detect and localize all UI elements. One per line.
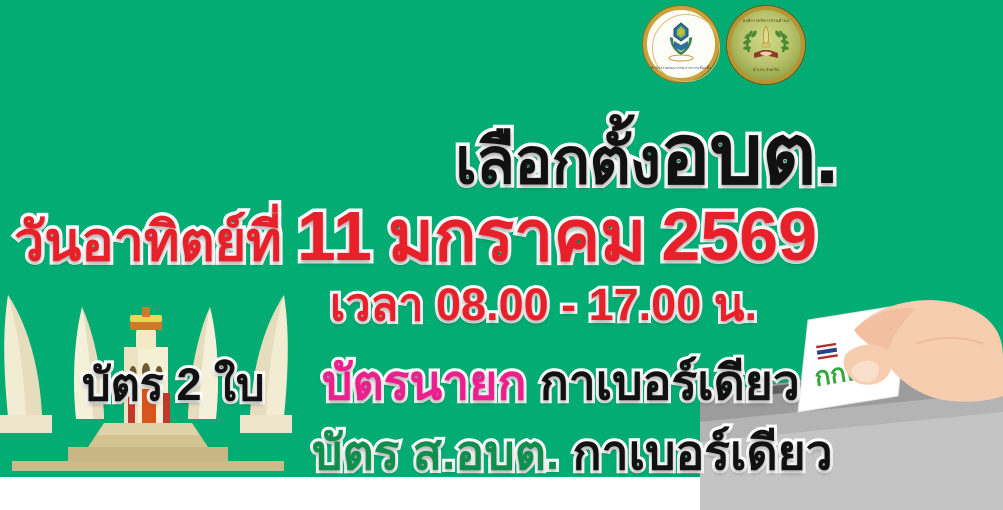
ballot-council-type: บัตร ส.อบต. bbox=[312, 427, 559, 480]
time-range: 08.00 - 17.00 bbox=[436, 279, 701, 330]
local-seal-graphic bbox=[738, 17, 794, 73]
time-label: เวลา bbox=[330, 279, 424, 330]
ballot-mayor-instruction: กาเบอร์เดียว bbox=[540, 357, 800, 410]
ballot-row-mayor: บัตรนายก กาเบอร์เดียว bbox=[322, 345, 800, 421]
ballot-council-instruction: กาเบอร์เดียว bbox=[573, 427, 833, 480]
ballot-mayor-type: บัตรนายก bbox=[322, 357, 526, 410]
local-seal-caption-bottom: อำเภอ จังหวัด bbox=[731, 66, 801, 73]
date-month: มกราคม bbox=[388, 197, 646, 275]
ect-emblem-graphic bbox=[661, 21, 701, 65]
date-day-label: วันอาทิตย์ที่ bbox=[14, 212, 282, 272]
ballot-row-council: บัตร ส.อบต. กาเบอร์เดียว bbox=[312, 415, 833, 491]
ballot-count-label: บัตร 2 ใบ bbox=[82, 348, 265, 420]
ect-seal-caption: สำนักงานคณะกรรมการการเลือกตั้ง bbox=[647, 65, 715, 71]
date-year: 2569 bbox=[661, 197, 817, 275]
election-commission-of-thailand-seal: สำนักงานคณะกรรมการการเลือกตั้ง bbox=[643, 6, 719, 82]
time-unit: น. bbox=[714, 279, 757, 330]
election-poster: สำนักงานคณะกรรมการการเลือกตั้ง bbox=[0, 0, 1003, 510]
local-seal-caption-top: องค์การบริหารส่วนตำบล bbox=[731, 17, 801, 24]
emblem-row: สำนักงานคณะกรรมการการเลือกตั้ง bbox=[643, 6, 813, 86]
election-time: เวลา 08.00 - 17.00 น. bbox=[330, 268, 757, 340]
date-day-number: 11 bbox=[297, 197, 373, 275]
subdistrict-administrative-organization-seal: องค์การบริหารส่วนตำบล อำเภอ จังหวัด bbox=[727, 6, 805, 84]
